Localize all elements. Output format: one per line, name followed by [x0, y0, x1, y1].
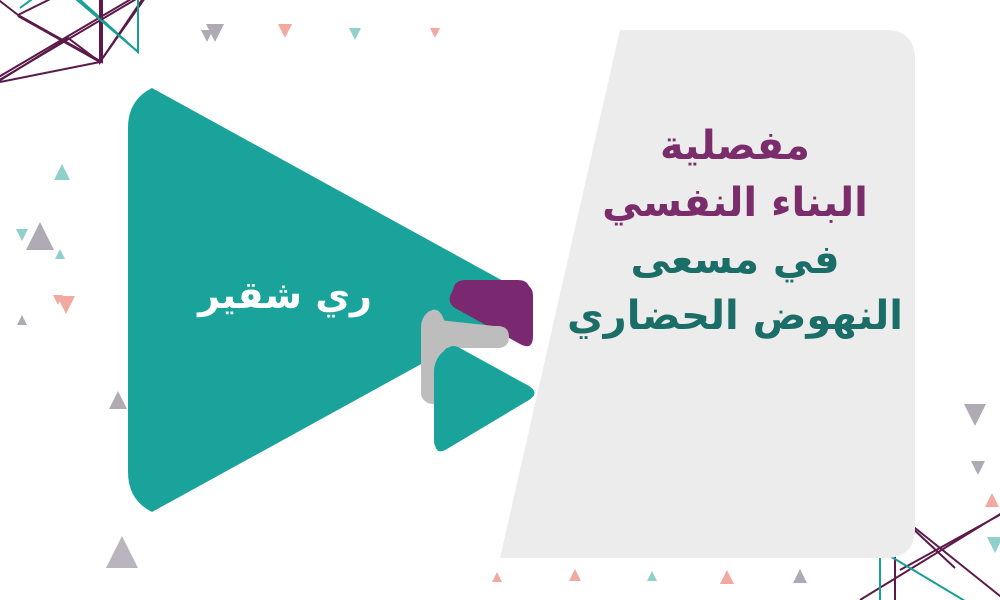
triple-play-triangle-logo — [0, 0, 1000, 600]
teal-logo-triangle-shape — [435, 346, 535, 451]
cover-canvas: ري شقير مفصلية البناء النفسي في مسعى الن… — [0, 0, 1000, 600]
